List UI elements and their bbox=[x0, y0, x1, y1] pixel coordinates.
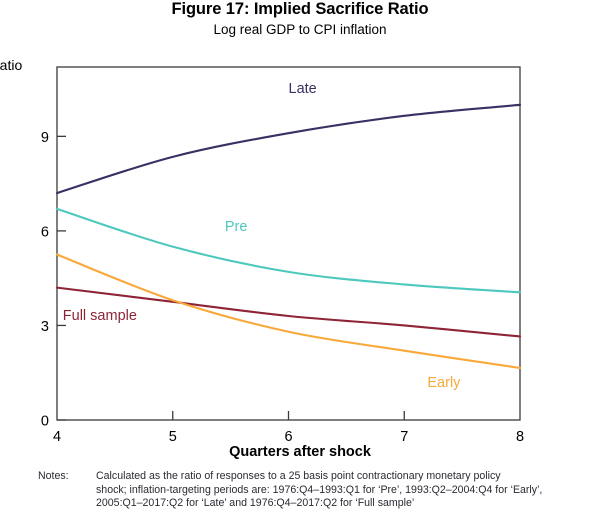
figure-container: Figure 17: Implied Sacrifice Ratio Log r… bbox=[0, 0, 600, 523]
y-tick-label: 0 bbox=[41, 414, 49, 430]
notes-line: Calculated as the ratio of responses to … bbox=[96, 470, 593, 484]
y-tick-label: 9 bbox=[41, 130, 49, 146]
x-tick-label: 5 bbox=[169, 429, 177, 445]
series-line-pre bbox=[57, 209, 520, 293]
plot-border bbox=[57, 67, 520, 420]
series-label-early: Early bbox=[427, 375, 460, 391]
notes-label: Notes: bbox=[38, 470, 96, 484]
series-label-pre: Pre bbox=[225, 219, 248, 235]
y-tick-label: 3 bbox=[41, 319, 49, 335]
data-series-group bbox=[57, 105, 520, 368]
figure-notes: Notes: Calculated as the ratio of respon… bbox=[38, 470, 593, 511]
chart-plot: 0369 45678 bbox=[0, 0, 600, 470]
notes-body: Calculated as the ratio of responses to … bbox=[96, 470, 593, 511]
series-label-late: Late bbox=[289, 81, 317, 97]
x-tick-label: 7 bbox=[400, 429, 408, 445]
x-axis-title: Quarters after shock bbox=[0, 444, 600, 460]
x-tick-label: 8 bbox=[516, 429, 524, 445]
x-tick-label: 4 bbox=[53, 429, 61, 445]
y-axis-ticks: 0369 bbox=[41, 130, 66, 430]
y-tick-label: 6 bbox=[41, 224, 49, 240]
notes-line: shock; inflation-targeting periods are: … bbox=[96, 484, 593, 498]
notes-line: 2005:Q1–2017:Q2 for ‘Late’ and 1976:Q4–2… bbox=[96, 497, 593, 511]
x-axis-ticks: 45678 bbox=[53, 411, 524, 445]
series-line-late bbox=[57, 105, 520, 193]
x-tick-label: 6 bbox=[284, 429, 292, 445]
plot-frame bbox=[57, 67, 520, 420]
series-label-full-sample: Full sample bbox=[63, 308, 137, 324]
